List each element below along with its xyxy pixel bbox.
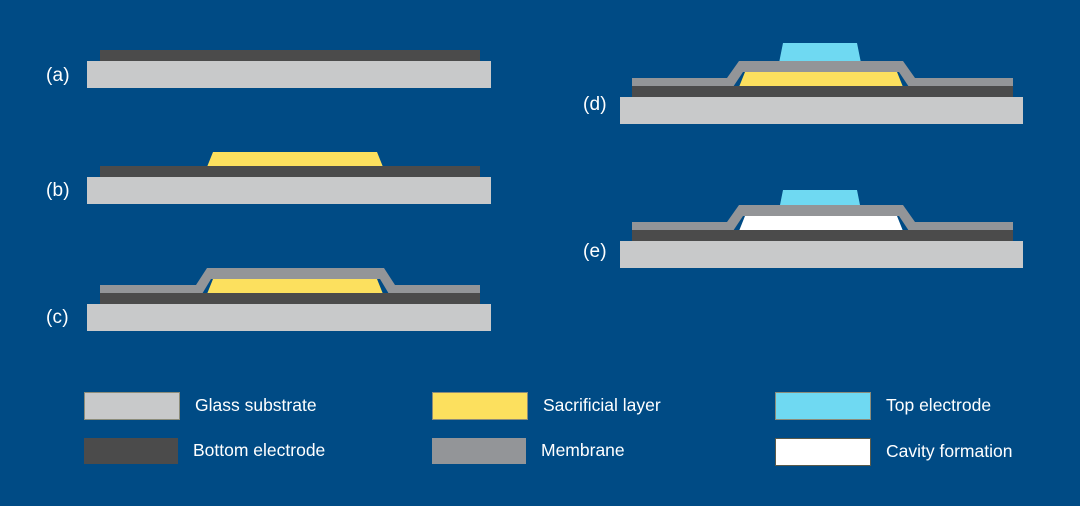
panel-b-glass-substrate xyxy=(87,177,491,204)
panel-c-bottom-electrode xyxy=(100,293,480,304)
panel-label-c: (c) xyxy=(46,308,69,327)
panel-c-glass-substrate xyxy=(87,304,491,331)
fabrication-process-figure: (a) (b) (c) (d) (e) Glass substrate Bott… xyxy=(0,0,1080,506)
panel-label-b: (b) xyxy=(46,181,70,200)
legend-label-bottom-electrode: Bottom electrode xyxy=(193,442,325,460)
panel-e-stack xyxy=(620,190,1023,268)
legend-swatch-bottom-electrode xyxy=(84,438,178,464)
panel-c-stack xyxy=(87,268,491,331)
panel-d-stack xyxy=(620,43,1023,124)
panel-label-e: (e) xyxy=(583,242,607,261)
legend-item-glass-substrate: Glass substrate xyxy=(84,392,317,420)
legend-swatch-cavity-formation xyxy=(775,438,871,466)
panel-a-stack xyxy=(87,50,491,88)
legend-item-top-electrode: Top electrode xyxy=(775,392,991,420)
panel-label-a: (a) xyxy=(46,66,70,85)
legend-item-cavity-formation: Cavity formation xyxy=(775,438,1012,466)
panel-label-d: (d) xyxy=(583,95,607,114)
legend-label-glass-substrate: Glass substrate xyxy=(195,397,317,415)
legend-item-membrane: Membrane xyxy=(432,438,625,464)
legend-swatch-glass-substrate xyxy=(84,392,180,420)
panel-e-bottom-electrode xyxy=(632,230,1013,241)
process-flow-diagram xyxy=(0,0,1080,506)
panel-a-glass-substrate xyxy=(87,61,491,88)
panel-e-glass-substrate xyxy=(620,241,1023,268)
panel-d-top-electrode xyxy=(779,43,861,63)
panel-b-bottom-electrode xyxy=(100,166,480,177)
legend-label-sacrificial-layer: Sacrificial layer xyxy=(543,397,661,415)
legend-swatch-top-electrode xyxy=(775,392,871,420)
legend-swatch-sacrificial-layer xyxy=(432,392,528,420)
panel-d-glass-substrate xyxy=(620,97,1023,124)
legend-swatch-membrane xyxy=(432,438,526,464)
panel-a-bottom-electrode xyxy=(100,50,480,61)
legend-item-bottom-electrode: Bottom electrode xyxy=(84,438,325,464)
panel-b-stack xyxy=(87,152,491,204)
panel-d-bottom-electrode xyxy=(632,86,1013,97)
legend-label-top-electrode: Top electrode xyxy=(886,397,991,415)
legend-label-cavity-formation: Cavity formation xyxy=(886,443,1012,461)
legend-item-sacrificial-layer: Sacrificial layer xyxy=(432,392,661,420)
legend-label-membrane: Membrane xyxy=(541,442,625,460)
